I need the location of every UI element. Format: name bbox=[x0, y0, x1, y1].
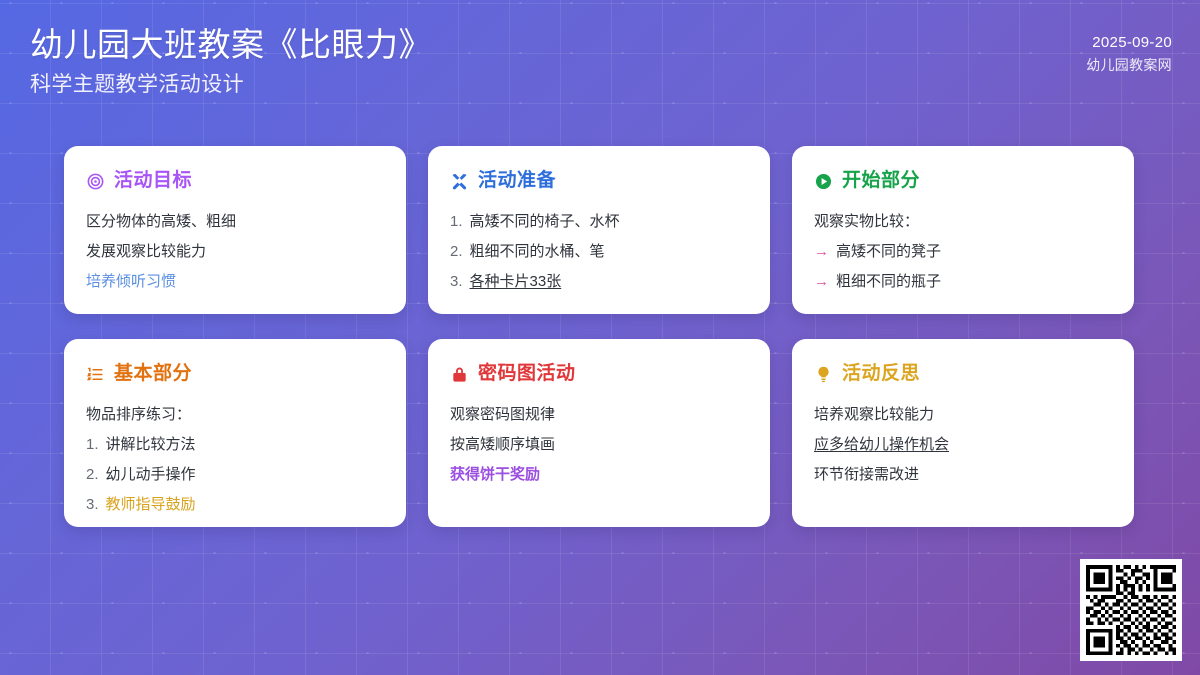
card-header: 活动反思 bbox=[814, 361, 1112, 387]
card-body: 物品排序练习：1.讲解比较方法2.幼儿动手操作3.教师指导鼓励 bbox=[86, 400, 384, 520]
qr-code-container[interactable] bbox=[1080, 559, 1182, 661]
card-line: 2.幼儿动手操作 bbox=[86, 460, 384, 490]
card-line: 物品排序练习： bbox=[86, 400, 384, 430]
card-body: 培养观察比较能力应多给幼儿操作机会环节衔接需改进 bbox=[814, 400, 1112, 490]
card-line-text: 应多给幼儿操作机会 bbox=[814, 436, 949, 453]
header-date: 2025-09-20 bbox=[1086, 32, 1172, 54]
card-line-text: 幼儿动手操作 bbox=[106, 460, 196, 490]
card-line: 发展观察比较能力 bbox=[86, 237, 384, 267]
card-line: 1.讲解比较方法 bbox=[86, 430, 384, 460]
card-line: →高矮不同的凳子 bbox=[814, 237, 1112, 267]
card-line-text: 观察实物比较： bbox=[814, 213, 919, 230]
card-title: 活动反思 bbox=[842, 361, 920, 387]
header-site-name: 幼儿园教案网 bbox=[1086, 54, 1172, 76]
card-line-text: 观察密码图规律 bbox=[450, 406, 555, 423]
header-meta: 2025-09-20 幼儿园教案网 bbox=[1086, 32, 1172, 76]
play-circle-icon bbox=[814, 172, 833, 191]
card-reflect[interactable]: 活动反思培养观察比较能力应多给幼儿操作机会环节衔接需改进 bbox=[792, 339, 1134, 527]
page-title: 幼儿园大班教案《比眼力》 bbox=[30, 24, 432, 66]
card-body: 观察密码图规律按高矮顺序填画获得饼干奖励 bbox=[450, 400, 748, 490]
list-number: 2. bbox=[86, 460, 99, 490]
card-body: 区分物体的高矮、粗细发展观察比较能力培养倾听习惯 bbox=[86, 207, 384, 297]
slide-root: 幼儿园大班教案《比眼力》 科学主题教学活动设计 2025-09-20 幼儿园教案… bbox=[0, 0, 1200, 675]
card-line: 按高矮顺序填画 bbox=[450, 430, 748, 460]
card-line: 区分物体的高矮、粗细 bbox=[86, 207, 384, 237]
card-header: 基本部分 bbox=[86, 361, 384, 387]
card-header: 活动目标 bbox=[86, 168, 384, 194]
card-line: 3.各种卡片33张 bbox=[450, 267, 748, 297]
card-grid: 活动目标区分物体的高矮、粗细发展观察比较能力培养倾听习惯 活动准备1.高矮不同的… bbox=[64, 146, 1136, 527]
card-line-text: 获得饼干奖励 bbox=[450, 466, 540, 483]
card-title: 密码图活动 bbox=[478, 361, 576, 387]
card-prepare[interactable]: 活动准备1.高矮不同的椅子、水杯2.粗细不同的水桶、笔3.各种卡片33张 bbox=[428, 146, 770, 314]
lock-icon bbox=[450, 365, 469, 384]
card-line: 观察实物比较： bbox=[814, 207, 1112, 237]
card-title: 开始部分 bbox=[842, 168, 920, 194]
list-number: 3. bbox=[450, 267, 463, 297]
card-header: 密码图活动 bbox=[450, 361, 748, 387]
card-line-text: 物品排序练习： bbox=[86, 406, 191, 423]
card-header: 开始部分 bbox=[814, 168, 1112, 194]
card-line-text: 按高矮顺序填画 bbox=[450, 436, 555, 453]
card-line: →粗细不同的瓶子 bbox=[814, 267, 1112, 297]
lightbulb-icon bbox=[814, 365, 833, 384]
card-body: 1.高矮不同的椅子、水杯2.粗细不同的水桶、笔3.各种卡片33张 bbox=[450, 207, 748, 297]
list-number: 1. bbox=[86, 430, 99, 460]
list-number: 2. bbox=[450, 237, 463, 267]
slide-header: 幼儿园大班教案《比眼力》 科学主题教学活动设计 2025-09-20 幼儿园教案… bbox=[0, 0, 1200, 126]
tools-icon bbox=[450, 172, 469, 191]
card-title: 活动准备 bbox=[478, 168, 556, 194]
page-subtitle: 科学主题教学活动设计 bbox=[30, 70, 432, 100]
arrow-icon: → bbox=[814, 267, 829, 297]
card-line: 1.高矮不同的椅子、水杯 bbox=[450, 207, 748, 237]
card-line-text: 高矮不同的凳子 bbox=[836, 237, 941, 267]
card-line: 2.粗细不同的水桶、笔 bbox=[450, 237, 748, 267]
card-line-text: 教师指导鼓励 bbox=[106, 490, 196, 520]
card-line-text: 培养观察比较能力 bbox=[814, 406, 934, 423]
card-line-text: 粗细不同的瓶子 bbox=[836, 267, 941, 297]
card-goal[interactable]: 活动目标区分物体的高矮、粗细发展观察比较能力培养倾听习惯 bbox=[64, 146, 406, 314]
card-line-text: 粗细不同的水桶、笔 bbox=[470, 237, 605, 267]
card-body: 观察实物比较：→高矮不同的凳子→粗细不同的瓶子 bbox=[814, 207, 1112, 297]
card-basic[interactable]: 基本部分物品排序练习：1.讲解比较方法2.幼儿动手操作3.教师指导鼓励 bbox=[64, 339, 406, 527]
card-line-text: 区分物体的高矮、粗细 bbox=[86, 213, 236, 230]
card-line: 环节衔接需改进 bbox=[814, 460, 1112, 490]
card-start[interactable]: 开始部分观察实物比较：→高矮不同的凳子→粗细不同的瓶子 bbox=[792, 146, 1134, 314]
card-line-text: 培养倾听习惯 bbox=[86, 273, 176, 290]
ordered-list-icon bbox=[86, 365, 105, 384]
list-number: 3. bbox=[86, 490, 99, 520]
card-cipher[interactable]: 密码图活动观察密码图规律按高矮顺序填画获得饼干奖励 bbox=[428, 339, 770, 527]
card-title: 活动目标 bbox=[114, 168, 192, 194]
card-line-text: 高矮不同的椅子、水杯 bbox=[470, 207, 620, 237]
card-line: 获得饼干奖励 bbox=[450, 460, 748, 490]
card-line-text: 各种卡片33张 bbox=[470, 267, 562, 297]
card-line-text: 环节衔接需改进 bbox=[814, 466, 919, 483]
card-line: 培养倾听习惯 bbox=[86, 267, 384, 297]
card-header: 活动准备 bbox=[450, 168, 748, 194]
card-line: 3.教师指导鼓励 bbox=[86, 490, 384, 520]
title-block: 幼儿园大班教案《比眼力》 科学主题教学活动设计 bbox=[30, 24, 432, 100]
arrow-icon: → bbox=[814, 237, 829, 267]
list-number: 1. bbox=[450, 207, 463, 237]
card-line: 应多给幼儿操作机会 bbox=[814, 430, 1112, 460]
card-line: 观察密码图规律 bbox=[450, 400, 748, 430]
card-line-text: 讲解比较方法 bbox=[106, 430, 196, 460]
qr-code bbox=[1086, 565, 1176, 655]
target-icon bbox=[86, 172, 105, 191]
card-line-text: 发展观察比较能力 bbox=[86, 243, 206, 260]
card-line: 培养观察比较能力 bbox=[814, 400, 1112, 430]
card-title: 基本部分 bbox=[114, 361, 192, 387]
